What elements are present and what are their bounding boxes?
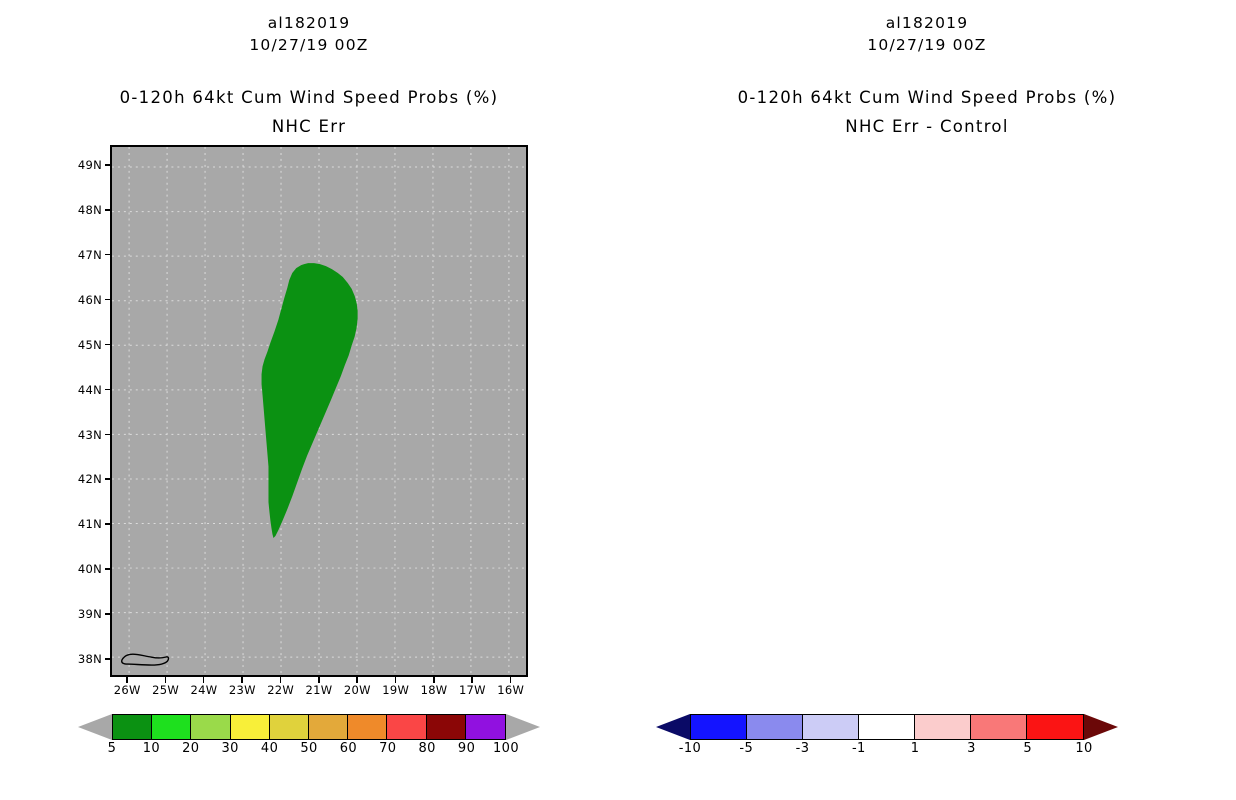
colorbar-over-arrow (1084, 714, 1118, 740)
y-tick-label: 49N (62, 158, 102, 172)
y-tick-mark (105, 613, 111, 615)
colorbar-swatch (427, 715, 466, 739)
y-tick-label: 45N (62, 338, 102, 352)
y-tick-label: 41N (62, 517, 102, 531)
colorbar-swatch (309, 715, 348, 739)
colorbar-swatch (113, 715, 152, 739)
colorbar-swatch (270, 715, 309, 739)
y-tick-label: 40N (62, 562, 102, 576)
y-tick-mark (105, 209, 111, 211)
panel-right-date: 10/27/19 00Z (618, 36, 1236, 54)
contour-shapes-left (112, 147, 526, 675)
colorbar-over-arrow (506, 714, 540, 740)
colorbar-tick-label: 100 (483, 741, 529, 756)
y-tick-mark (105, 434, 111, 436)
y-tick-mark (105, 478, 111, 480)
colorbar-cells (112, 714, 506, 740)
contour-5-10-percent (262, 263, 358, 538)
panel-right-storm-id: al182019 (618, 14, 1236, 32)
plot-area-nhc-err (110, 145, 528, 677)
island-outline-left (122, 654, 169, 665)
colorbar-tick-label: 5 (1005, 741, 1051, 756)
y-tick-label: 38N (62, 652, 102, 666)
x-tick-label: 22W (261, 683, 301, 697)
x-tick-label: 21W (299, 683, 339, 697)
colorbar-swatch (152, 715, 191, 739)
x-tick-mark (433, 677, 435, 683)
colorbar-swatch (191, 715, 230, 739)
y-tick-label: 46N (62, 293, 102, 307)
difference-colorbar: -10-5-3-113510 (656, 714, 1118, 740)
y-tick-label: 39N (62, 607, 102, 621)
colorbar-under-arrow (656, 714, 690, 740)
y-tick-mark (105, 389, 111, 391)
y-tick-mark (105, 344, 111, 346)
colorbar-swatch (691, 715, 747, 739)
x-tick-mark (203, 677, 205, 683)
panel-left-title-sub: NHC Err (0, 117, 618, 136)
colorbar-tick-label: -3 (780, 741, 826, 756)
y-tick-label: 43N (62, 428, 102, 442)
y-tick-label: 44N (62, 383, 102, 397)
colorbar-swatch (859, 715, 915, 739)
colorbar-swatch (971, 715, 1027, 739)
panel-left-title-main: 0-120h 64kt Cum Wind Speed Probs (%) (0, 88, 618, 107)
x-tick-mark (165, 677, 167, 683)
colorbar-swatch (803, 715, 859, 739)
y-tick-label: 47N (62, 248, 102, 262)
x-tick-mark (510, 677, 512, 683)
y-tick-label: 42N (62, 472, 102, 486)
colorbar-cells (690, 714, 1084, 740)
y-tick-mark (105, 568, 111, 570)
x-tick-mark (395, 677, 397, 683)
colorbar-tick-label: 1 (892, 741, 938, 756)
colorbar-tick-label: -1 (836, 741, 882, 756)
x-tick-mark (318, 677, 320, 683)
x-tick-label: 20W (337, 683, 377, 697)
colorbar-swatch (231, 715, 270, 739)
colorbar-swatch (466, 715, 505, 739)
y-tick-mark (105, 523, 111, 525)
x-tick-label: 19W (376, 683, 416, 697)
panel-right-title-sub: NHC Err - Control (618, 117, 1236, 136)
x-tick-label: 18W (414, 683, 454, 697)
probability-colorbar: 5102030405060708090100 (78, 714, 540, 740)
x-tick-label: 23W (222, 683, 262, 697)
x-tick-label: 25W (146, 683, 186, 697)
colorbar-swatch (387, 715, 426, 739)
y-tick-mark (105, 254, 111, 256)
colorbar-swatch (747, 715, 803, 739)
x-tick-label: 26W (107, 683, 147, 697)
colorbar-tick-label: -5 (723, 741, 769, 756)
colorbar-tick-label: 10 (1061, 741, 1107, 756)
colorbar-swatch (915, 715, 971, 739)
y-tick-mark (105, 299, 111, 301)
y-tick-mark (105, 164, 111, 166)
panel-nhc-err-minus-control: al182019 10/27/19 00Z 0-120h 64kt Cum Wi… (618, 0, 1236, 800)
y-tick-label: 48N (62, 203, 102, 217)
panel-nhc-err: al182019 10/27/19 00Z 0-120h 64kt Cum Wi… (0, 0, 618, 800)
panel-left-storm-id: al182019 (0, 14, 618, 32)
y-tick-mark (105, 658, 111, 660)
x-tick-label: 16W (491, 683, 531, 697)
colorbar-swatch (1027, 715, 1083, 739)
x-tick-mark (471, 677, 473, 683)
x-tick-label: 24W (184, 683, 224, 697)
colorbar-tick-label: -10 (667, 741, 713, 756)
x-tick-mark (241, 677, 243, 683)
x-tick-mark (126, 677, 128, 683)
x-tick-mark (280, 677, 282, 683)
colorbar-under-arrow (78, 714, 112, 740)
colorbar-swatch (348, 715, 387, 739)
x-tick-label: 17W (452, 683, 492, 697)
colorbar-tick-label: 3 (948, 741, 994, 756)
panel-right-title-main: 0-120h 64kt Cum Wind Speed Probs (%) (618, 88, 1236, 107)
x-tick-mark (356, 677, 358, 683)
panel-left-date: 10/27/19 00Z (0, 36, 618, 54)
